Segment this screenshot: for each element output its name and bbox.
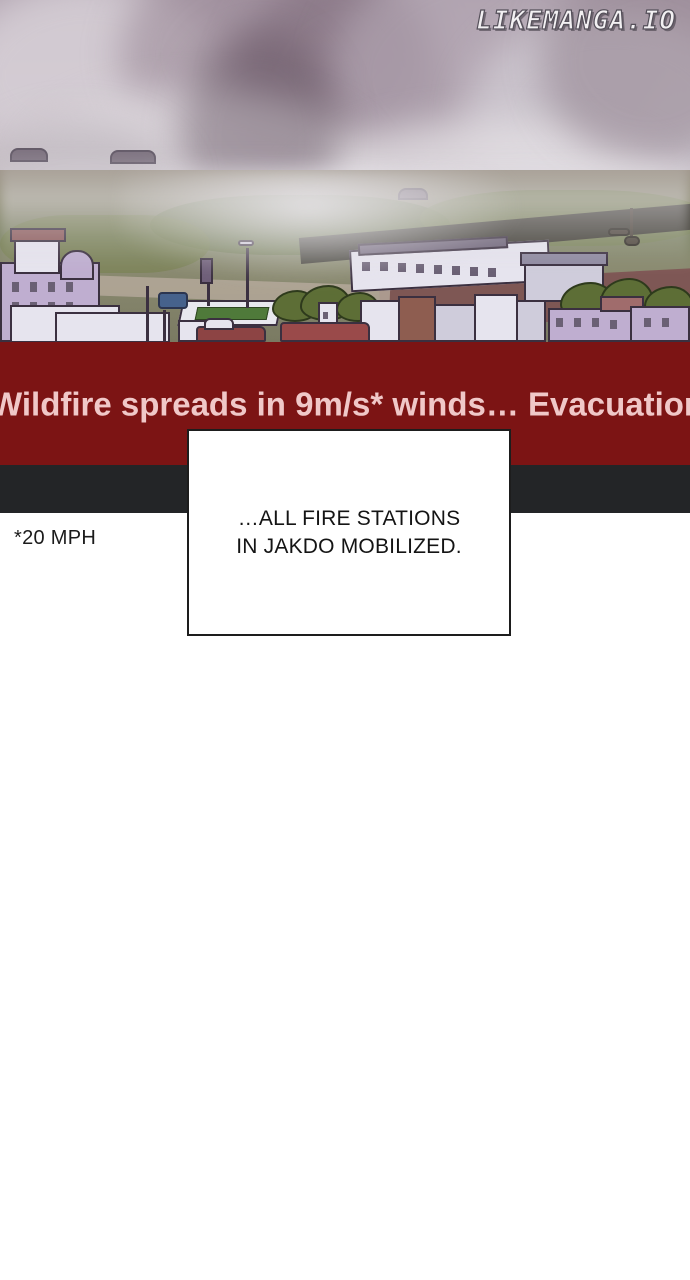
- building-brick: [398, 296, 436, 342]
- window: [362, 262, 370, 271]
- comic-page: LIKEMANGA.IO Wildfire spreads in 9m/s* w…: [0, 0, 690, 1280]
- window: [12, 282, 19, 292]
- window: [380, 262, 388, 271]
- window: [592, 318, 599, 327]
- window: [610, 320, 617, 329]
- building-dome-left: [60, 250, 94, 280]
- utility-pole: [146, 286, 149, 342]
- building-white-front-left-2: [55, 312, 170, 342]
- distant-pole: [630, 208, 633, 238]
- window: [662, 318, 669, 327]
- window: [556, 318, 563, 327]
- water-tank: [158, 292, 188, 309]
- window: [452, 266, 460, 275]
- window: [488, 268, 496, 277]
- building-tower-left: [14, 238, 60, 274]
- vehicle: [280, 322, 370, 342]
- street-lamp-pole: [246, 248, 249, 308]
- distant-structure: [398, 188, 428, 200]
- window: [434, 265, 442, 274]
- building-foreground-4: [516, 300, 546, 342]
- window: [644, 318, 651, 327]
- street-lamp-head: [238, 240, 254, 246]
- speech-bubble-text: …ALL FIRE STATIONS IN JAKDO MOBILIZED.: [236, 505, 462, 560]
- vehicle-cabin: [204, 318, 234, 330]
- window: [30, 282, 37, 292]
- window: [48, 282, 55, 292]
- roof-left-tower: [10, 228, 66, 242]
- window: [574, 318, 581, 327]
- window: [470, 267, 478, 276]
- distant-structure: [110, 150, 156, 164]
- likemanga-watermark: LIKEMANGA.IO: [476, 6, 676, 36]
- building-lavender-far-right: [630, 306, 690, 342]
- window: [416, 264, 424, 273]
- building-foreground-2: [434, 304, 476, 342]
- footnote-wind-speed: *20 MPH: [14, 527, 96, 550]
- signal-box: [200, 258, 213, 284]
- distant-structure: [10, 148, 48, 162]
- building-foreground-3: [474, 294, 518, 342]
- distant-object: [608, 228, 630, 236]
- window: [398, 263, 406, 272]
- wildfire-cityscape-panel: LIKEMANGA.IO: [0, 0, 690, 342]
- window: [66, 282, 73, 292]
- news-ticker-text: Wildfire spreads in 9m/s* winds… Evacuat…: [0, 387, 690, 420]
- window: [323, 312, 328, 319]
- speech-bubble: …ALL FIRE STATIONS IN JAKDO MOBILIZED.: [187, 429, 511, 636]
- distant-object: [624, 236, 640, 246]
- roof-grey-right: [520, 252, 608, 266]
- utility-pole: [163, 310, 166, 342]
